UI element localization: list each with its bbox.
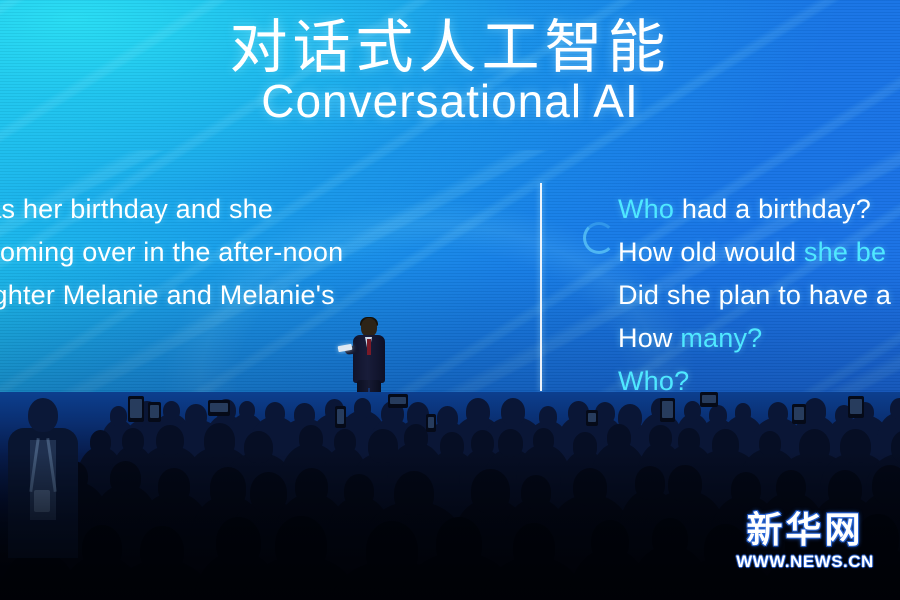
question-line: How many? (618, 321, 900, 364)
watermark-url: WWW.NEWS.CN (722, 553, 888, 570)
question-line: Did she plan to have a (618, 278, 900, 321)
transcript-passage: ay was her birthday and shewas coming ov… (0, 192, 490, 321)
phone-screen-glow (794, 407, 804, 420)
transcript-line: ay was her birthday and she (0, 192, 490, 235)
audience-silhouette-head (90, 430, 111, 454)
question-line: Who had a birthday? (618, 192, 900, 235)
audience-silhouette-head (678, 428, 700, 452)
audience-silhouette-head (294, 403, 315, 426)
phone-screen-glow (850, 399, 862, 414)
question-text: Did she plan to have a (618, 280, 891, 310)
question-keyword: she be (804, 237, 886, 267)
audience-silhouette-head (239, 401, 256, 420)
audience-silhouette-head (185, 404, 207, 428)
audience-silhouette-head (334, 429, 356, 454)
audience-silhouette-head (684, 401, 701, 420)
audience-silhouette-head (539, 406, 558, 427)
phone-screen-glow (390, 397, 406, 404)
phone-screen-glow (130, 399, 142, 418)
audience-silhouette-head (709, 405, 727, 425)
audience-silhouette-head (265, 402, 285, 424)
watermark-brand: 新华网 (722, 512, 888, 548)
question-text: How old would (618, 237, 804, 267)
question-text: had a birthday? (682, 194, 871, 224)
question-text: How (618, 323, 680, 353)
audience-silhouette-head (607, 424, 631, 451)
phone-screen-glow (662, 401, 673, 418)
presentation-photo: 对话式人工智能 Conversational AI ay was her bir… (0, 0, 900, 600)
watermark: 新华网 WWW.NEWS.CN (722, 512, 888, 584)
audience-silhouette-head (649, 425, 671, 450)
column-divider (540, 183, 542, 391)
phone-screen-glow (428, 417, 434, 428)
audience-silhouette-head (768, 402, 788, 424)
phone-screen-glow (702, 395, 716, 403)
question-line: How old would she be (618, 235, 900, 278)
transcript-line: was coming over in the after-noon (0, 235, 490, 278)
question-keyword: Who (618, 194, 682, 224)
loading-arc-icon (583, 222, 615, 254)
phone-screen-glow (150, 405, 159, 418)
transcript-line: r daughter Melanie and Melanie's (0, 278, 490, 321)
phone-screen-glow (588, 413, 596, 422)
audience-silhouette-head (804, 398, 827, 423)
phone-screen-glow (210, 403, 228, 412)
phone-screen-glow (337, 409, 344, 424)
audience-silhouette-head (437, 406, 458, 430)
generated-questions: Who had a birthday?How old would she beD… (618, 192, 900, 407)
audience-silhouette-head (735, 403, 751, 421)
audience-silhouette-head (501, 398, 525, 425)
audience-silhouette-head (890, 398, 900, 419)
audience-silhouette-head (122, 428, 144, 453)
presenter-tie (367, 339, 371, 355)
audience-silhouette-head (404, 424, 428, 451)
audience-silhouette-head (533, 428, 554, 452)
audience-silhouette-head (163, 401, 180, 420)
audience-silhouette-head (466, 398, 490, 425)
audience-silhouette-head (299, 425, 323, 452)
audience-silhouette-head (354, 398, 372, 418)
audience-silhouette-head (156, 425, 184, 456)
audience-member-head (28, 398, 58, 432)
question-keyword: many? (680, 323, 762, 353)
audience-silhouette-head (110, 406, 127, 425)
